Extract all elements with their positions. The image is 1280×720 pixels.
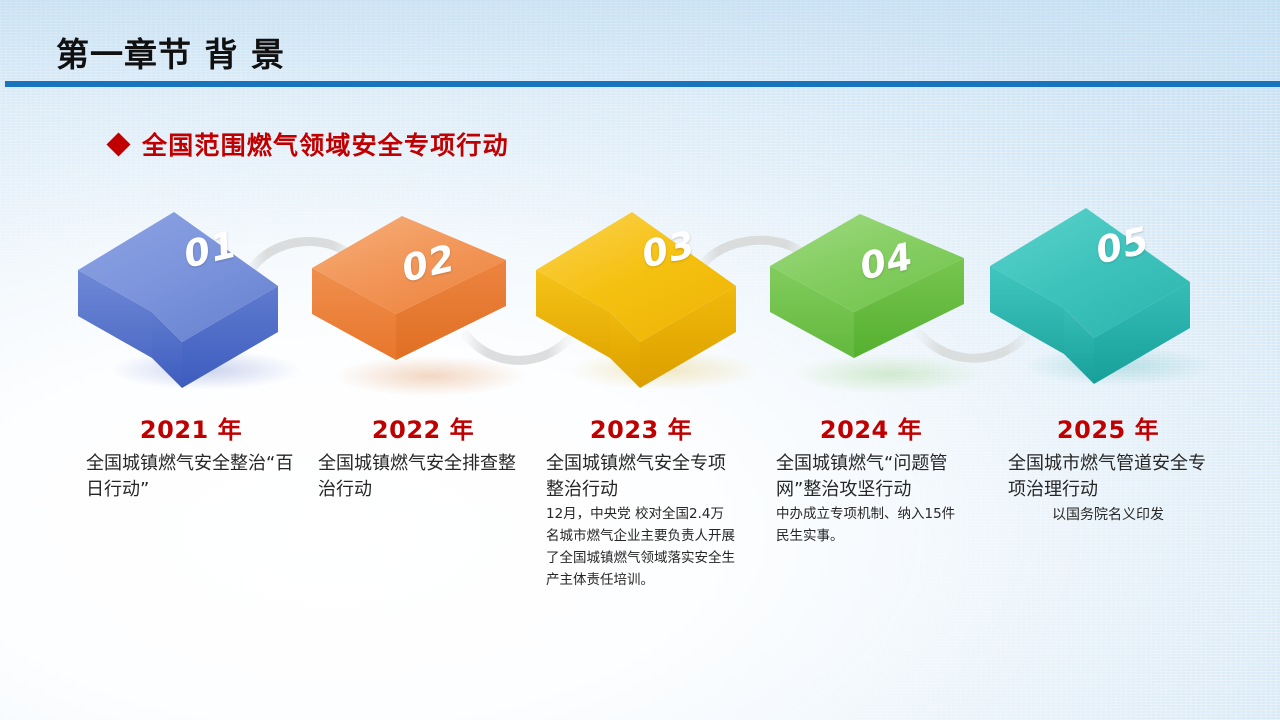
- timeline-step-03[interactable]: 03: [536, 198, 786, 388]
- timeline-text-05: 2025 年 全国城市燃气管道安全专项治理行动 以国务院名义印发: [1008, 410, 1208, 527]
- section-title: 全国范围燃气领域安全专项行动: [142, 126, 509, 162]
- chapter-title: 第一章节 背 景: [56, 28, 285, 76]
- year-label-2022: 2022 年: [318, 410, 528, 445]
- diamond-icon: [106, 132, 130, 156]
- timeline-step-02[interactable]: 02: [310, 208, 560, 398]
- note-text-2025: 以国务院名义印发: [1008, 504, 1208, 527]
- timeline-text-01: 2021 年 全国城镇燃气安全整治“百日行动”: [86, 410, 296, 502]
- year-label-2025: 2025 年: [1008, 410, 1208, 445]
- lead-text-2023: 全国城镇燃气安全专项整治行动: [546, 451, 736, 502]
- lead-text-2025: 全国城市燃气管道安全专项治理行动: [1008, 451, 1208, 502]
- lead-text-2024: 全国城镇燃气“问题管网”整治攻坚行动: [776, 451, 966, 502]
- timeline-step-04[interactable]: 04: [768, 206, 1018, 396]
- slide-header: 第一章节 背 景: [0, 0, 1280, 92]
- year-label-2021: 2021 年: [86, 410, 296, 445]
- timeline-step-05[interactable]: 05: [990, 194, 1240, 384]
- note-text-2023: 12月，中央党 校对全国2.4万名城市燃气企业主要负责人开展了全国城镇燃气领域落…: [546, 504, 736, 591]
- lead-text-2021: 全国城镇燃气安全整治“百日行动”: [86, 451, 296, 502]
- year-label-2024: 2024 年: [776, 410, 966, 445]
- slide-canvas: 第一章节 背 景 全国范围燃气领域安全专项行动: [0, 0, 1280, 720]
- timeline-text-04: 2024 年 全国城镇燃气“问题管网”整治攻坚行动 中办成立专项机制、纳入15件…: [776, 410, 966, 548]
- header-divider-rule: [5, 81, 1280, 87]
- note-text-2024: 中办成立专项机制、纳入15件民生实事。: [776, 504, 966, 548]
- section-heading: 全国范围燃气领域安全专项行动: [110, 126, 509, 162]
- timeline-text-03: 2023 年 全国城镇燃气安全专项整治行动 12月，中央党 校对全国2.4万名城…: [546, 410, 736, 592]
- year-label-2023: 2023 年: [546, 410, 736, 445]
- timeline-step-01[interactable]: 01: [78, 198, 328, 388]
- lead-text-2022: 全国城镇燃气安全排查整治行动: [318, 451, 528, 502]
- timeline-text-02: 2022 年 全国城镇燃气安全排查整治行动: [318, 410, 528, 502]
